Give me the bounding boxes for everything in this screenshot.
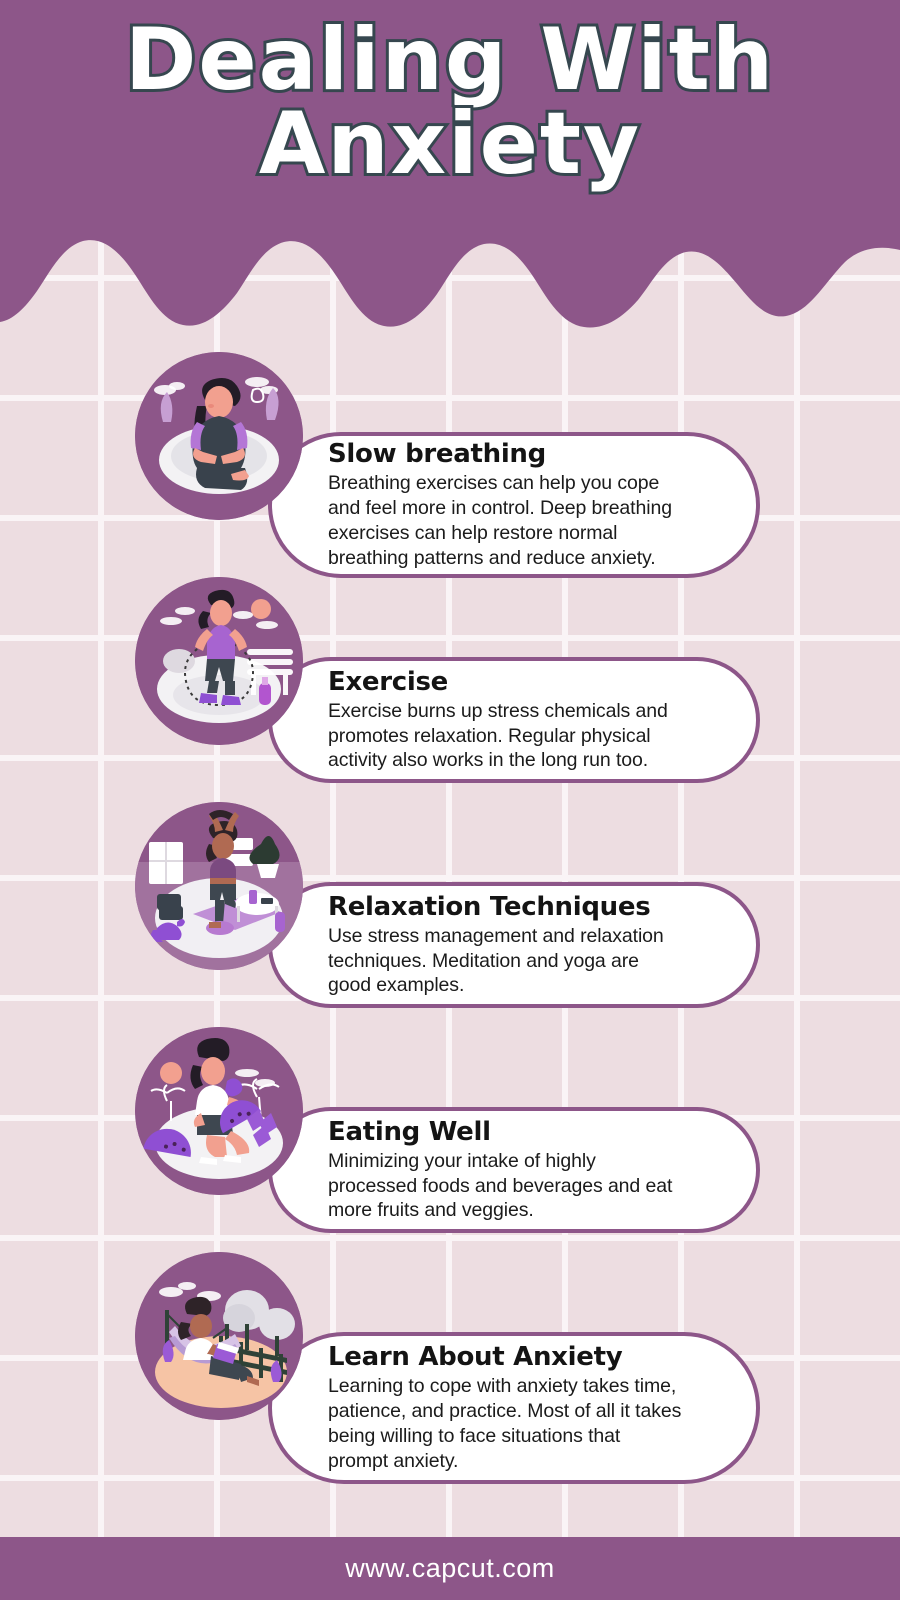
- tip-body: Minimizing your intake of highly process…: [328, 1149, 716, 1224]
- tip-title: Learn About Anxiety: [328, 1342, 716, 1372]
- tip-row-1: Slow breathing Breathing exercises can h…: [0, 352, 900, 582]
- tip-title: Slow breathing: [328, 439, 716, 469]
- tip-card-3[interactable]: Relaxation Techniques Use stress managem…: [268, 882, 760, 1008]
- tip-card-1[interactable]: Slow breathing Breathing exercises can h…: [268, 432, 760, 578]
- tip-row-5: Learn About Anxiety Learning to cope wit…: [0, 1252, 900, 1492]
- woman-jumping-rope-icon: [135, 577, 303, 745]
- footer-url[interactable]: www.capcut.com: [345, 1553, 555, 1584]
- infographic-poster: Dealing With Anxiety: [0, 0, 900, 1600]
- tip-title: Exercise: [328, 667, 716, 697]
- tip-body: Use stress management and relaxation tec…: [328, 924, 716, 999]
- woman-yoga-tree-pose-icon: [135, 802, 303, 970]
- title-line-2: Anxiety: [0, 102, 900, 186]
- woman-meditating-icon: [135, 352, 303, 520]
- header-banner: Dealing With Anxiety: [0, 0, 900, 330]
- tip-title: Relaxation Techniques: [328, 892, 716, 922]
- tip-body: Breathing exercises can help you cope an…: [328, 471, 716, 571]
- tip-card-2[interactable]: Exercise Exercise burns up stress chemic…: [268, 657, 760, 783]
- woman-reading-hammock-icon: [135, 1252, 303, 1420]
- tip-body: Exercise burns up stress chemicals and p…: [328, 699, 716, 774]
- tip-card-5[interactable]: Learn About Anxiety Learning to cope wit…: [268, 1332, 760, 1484]
- footer-bar: www.capcut.com: [0, 1537, 900, 1600]
- title-line-1: Dealing With: [0, 18, 900, 102]
- woman-eating-watermelon-icon: [135, 1027, 303, 1195]
- tip-body: Learning to cope with anxiety takes time…: [328, 1374, 716, 1474]
- tip-row-3: Relaxation Techniques Use stress managem…: [0, 802, 900, 1032]
- page-title: Dealing With Anxiety: [0, 18, 900, 187]
- tip-row-4: Eating Well Minimizing your intake of hi…: [0, 1027, 900, 1257]
- tip-title: Eating Well: [328, 1117, 716, 1147]
- tip-row-2: Exercise Exercise burns up stress chemic…: [0, 577, 900, 807]
- tip-card-4[interactable]: Eating Well Minimizing your intake of hi…: [268, 1107, 760, 1233]
